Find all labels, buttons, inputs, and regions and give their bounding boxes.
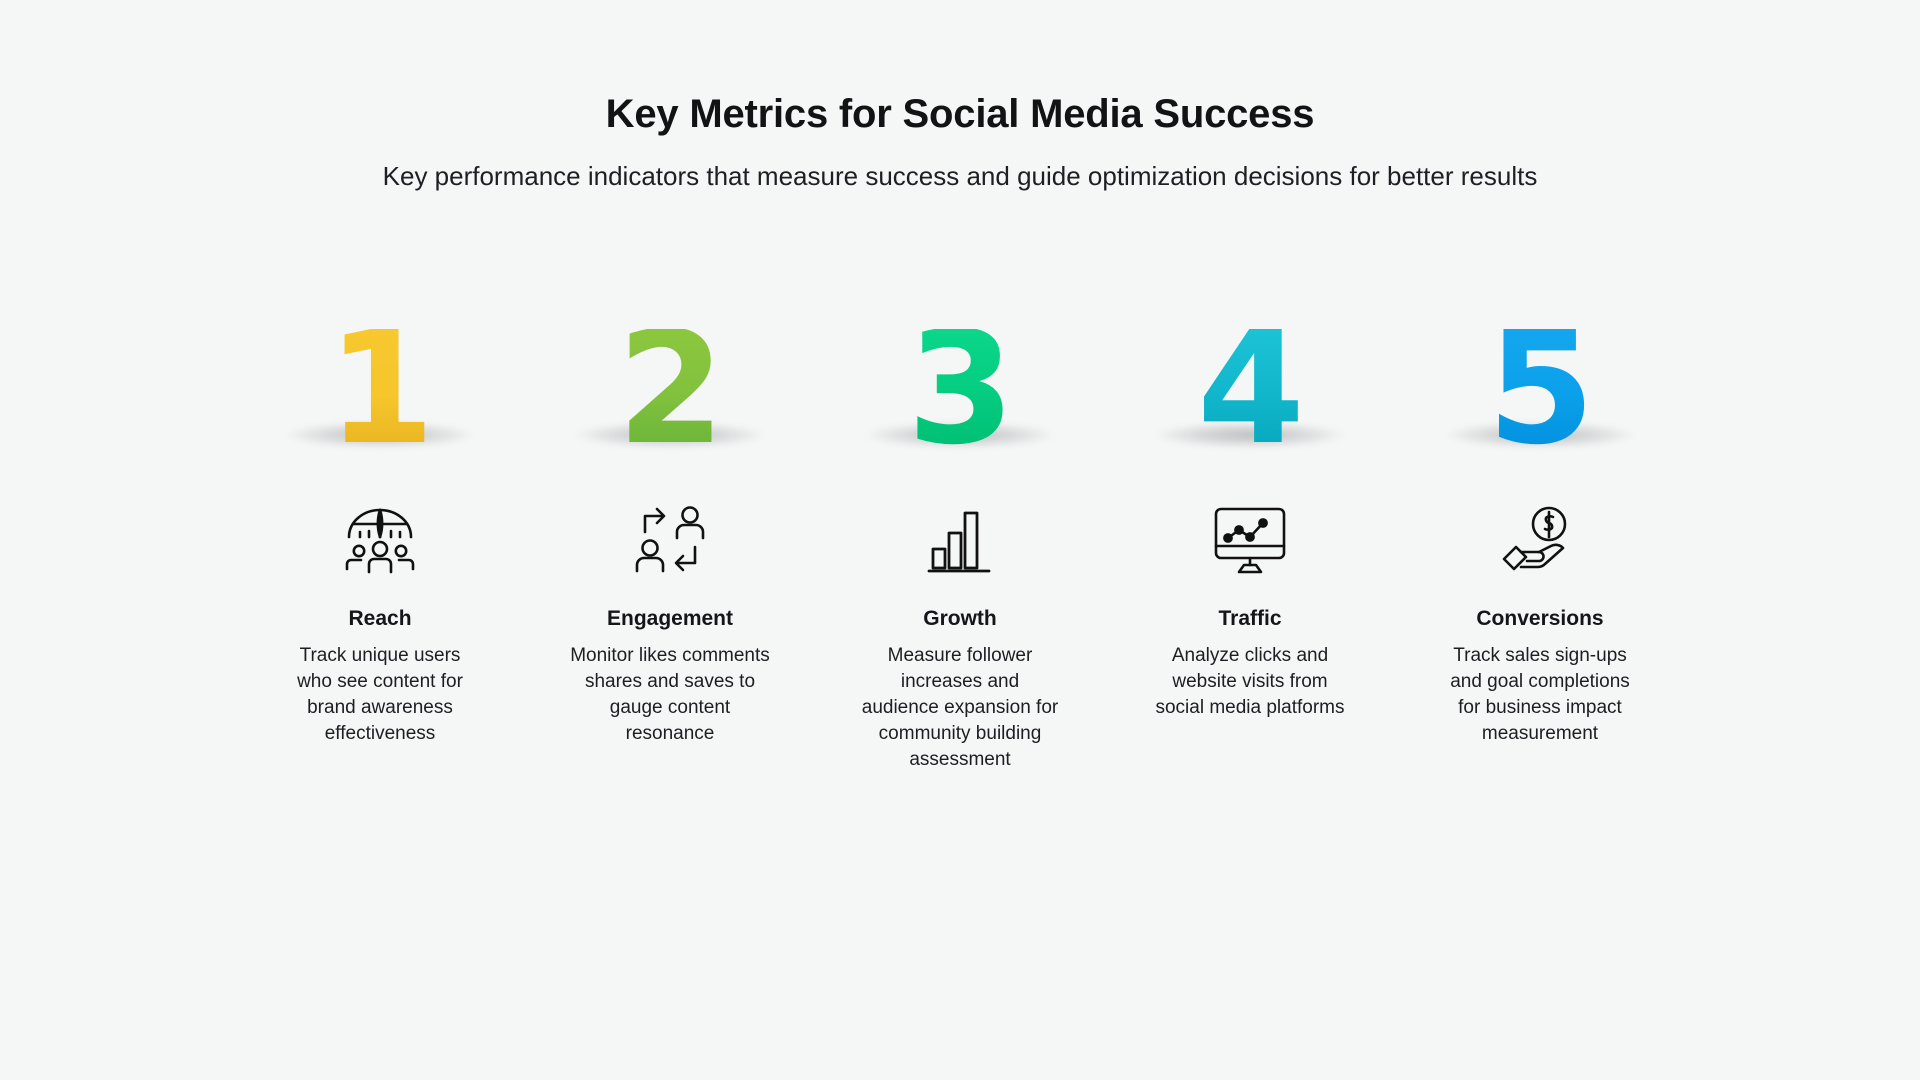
step-number: 4: [1197, 329, 1303, 450]
steps-row: 1 Reach Track uni: [0, 300, 1920, 772]
step-number-wrap: 2: [525, 300, 815, 450]
page-subtitle: Key performance indicators that measure …: [0, 160, 1920, 194]
bar-chart-icon: [927, 502, 993, 578]
hand-coin-icon: [1500, 502, 1580, 578]
step-item-engagement: 2 Engagement Monitor likes comments shar…: [525, 300, 815, 747]
globe-people-icon: [342, 502, 418, 578]
header: Key Metrics for Social Media Success Key…: [0, 0, 1920, 194]
step-description: Measure follower increases and audience …: [860, 643, 1060, 772]
step-label: Conversions: [1476, 606, 1603, 631]
step-number: 5: [1487, 329, 1593, 450]
step-number-wrap: 1: [235, 300, 525, 450]
step-number-wrap: 5: [1395, 300, 1685, 450]
step-item-conversions: 5 Conversions Track sales sign-ups and g…: [1395, 300, 1685, 747]
step-number: 1: [327, 329, 433, 450]
step-number: 2: [617, 329, 723, 450]
step-label: Traffic: [1218, 606, 1281, 631]
step-number: 3: [907, 329, 1013, 450]
step-description: Monitor likes comments shares and saves …: [570, 643, 770, 746]
step-description: Track sales sign-ups and goal completion…: [1440, 643, 1640, 746]
step-label: Engagement: [607, 606, 733, 631]
step-label: Growth: [923, 606, 997, 631]
step-number-wrap: 4: [1105, 300, 1395, 450]
monitor-analytics-icon: [1211, 502, 1289, 578]
people-exchange-icon: [633, 502, 707, 578]
step-item-growth: 3 Growth Measure follower increases and …: [815, 300, 1105, 772]
page-title: Key Metrics for Social Media Success: [0, 90, 1920, 138]
step-description: Track unique users who see content for b…: [280, 643, 480, 746]
infographic-page: Key Metrics for Social Media Success Key…: [0, 0, 1920, 1080]
step-item-traffic: 4 Traffic Analyze clicks and website vis…: [1105, 300, 1395, 721]
step-number-wrap: 3: [815, 300, 1105, 450]
step-label: Reach: [348, 606, 411, 631]
step-description: Analyze clicks and website visits from s…: [1150, 643, 1350, 720]
step-item-reach: 1 Reach Track uni: [235, 300, 525, 747]
